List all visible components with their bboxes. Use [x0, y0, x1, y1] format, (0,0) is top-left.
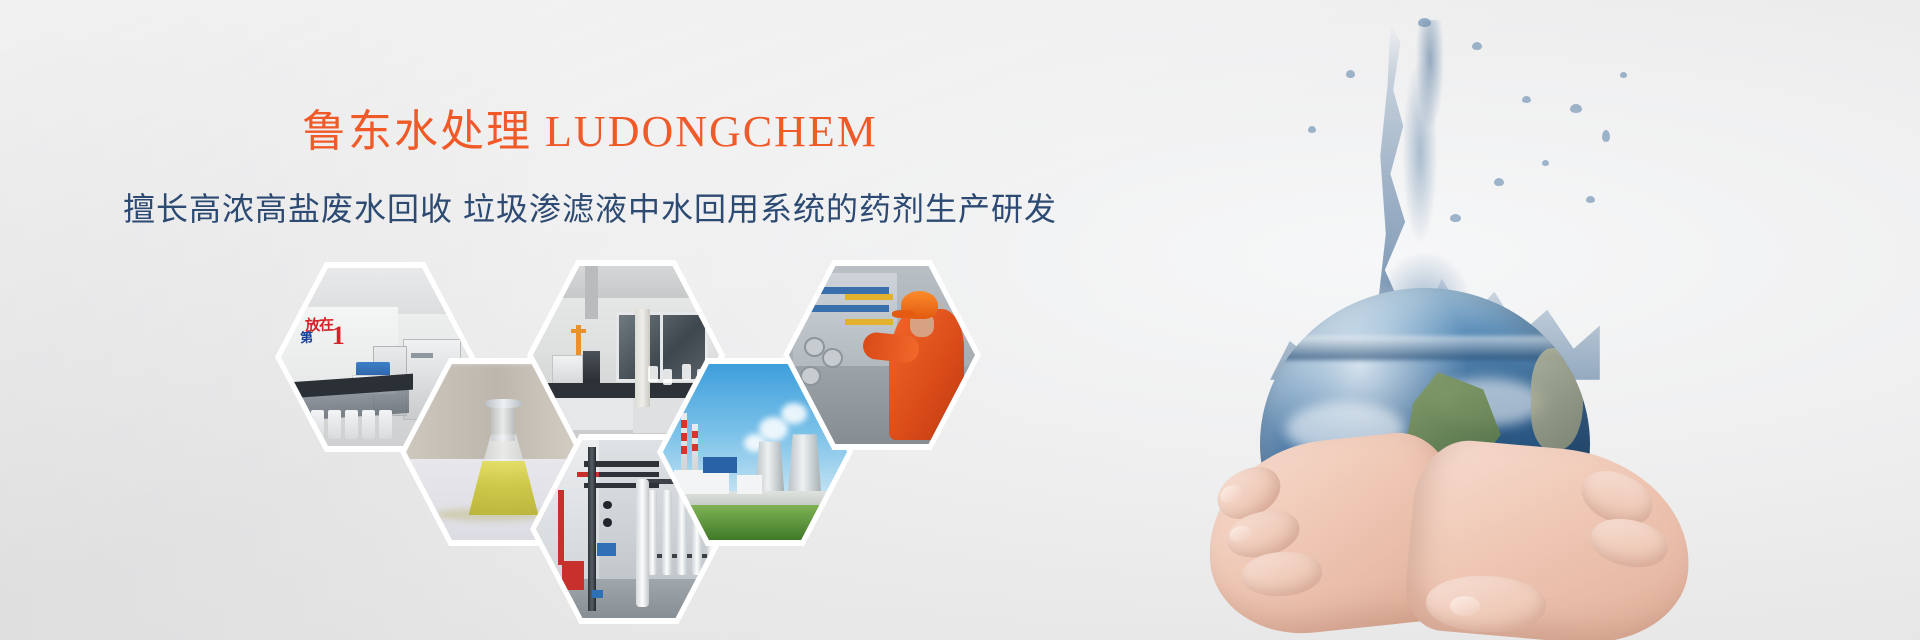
frame-corner-bottom-left [276, 144, 292, 166]
water-droplet [1542, 160, 1549, 166]
hexagon-worker-frame [789, 266, 975, 444]
water-droplet [1620, 72, 1627, 78]
title-decorative-frame: 鲁东水处理 LUDONGCHEM [276, 96, 904, 166]
water-splash-globe-in-hands [1150, 0, 1770, 640]
water-droplet [1450, 214, 1461, 222]
water-droplet [1308, 126, 1316, 133]
headline-block: 鲁东水处理 LUDONGCHEM 擅长高浓高盐废水回收 垃圾渗滤液中水回用系统的… [0, 96, 1180, 230]
water-droplet [1346, 70, 1355, 78]
water-droplet [1472, 42, 1482, 50]
hero-banner: 鲁东水处理 LUDONGCHEM 擅长高浓高盐废水回收 垃圾渗滤液中水回用系统的… [0, 0, 1920, 640]
wall-slogan-bottom: 第 [299, 327, 312, 346]
frame-corner-bottom-right [888, 144, 904, 166]
water-droplet [1494, 178, 1504, 186]
water-droplet [1602, 130, 1610, 142]
water-droplet [1586, 196, 1595, 203]
hexagon-gallery: 放在 第 1 [275, 262, 1185, 624]
water-droplet [1570, 104, 1582, 113]
water-droplet [1418, 18, 1431, 27]
frame-corner-top-right [888, 96, 904, 118]
fingernail [1450, 596, 1480, 616]
water-droplet [1522, 96, 1531, 103]
brand-title: 鲁东水处理 LUDONGCHEM [302, 106, 878, 158]
frame-corner-top-left [276, 96, 292, 118]
tagline: 擅长高浓高盐废水回收 垃圾渗滤液中水回用系统的药剂生产研发 [0, 188, 1180, 230]
wall-slogan-number: 1 [332, 321, 345, 351]
globe-landmass-africa [1531, 348, 1584, 450]
photo-worker-operating-valves [789, 266, 975, 444]
